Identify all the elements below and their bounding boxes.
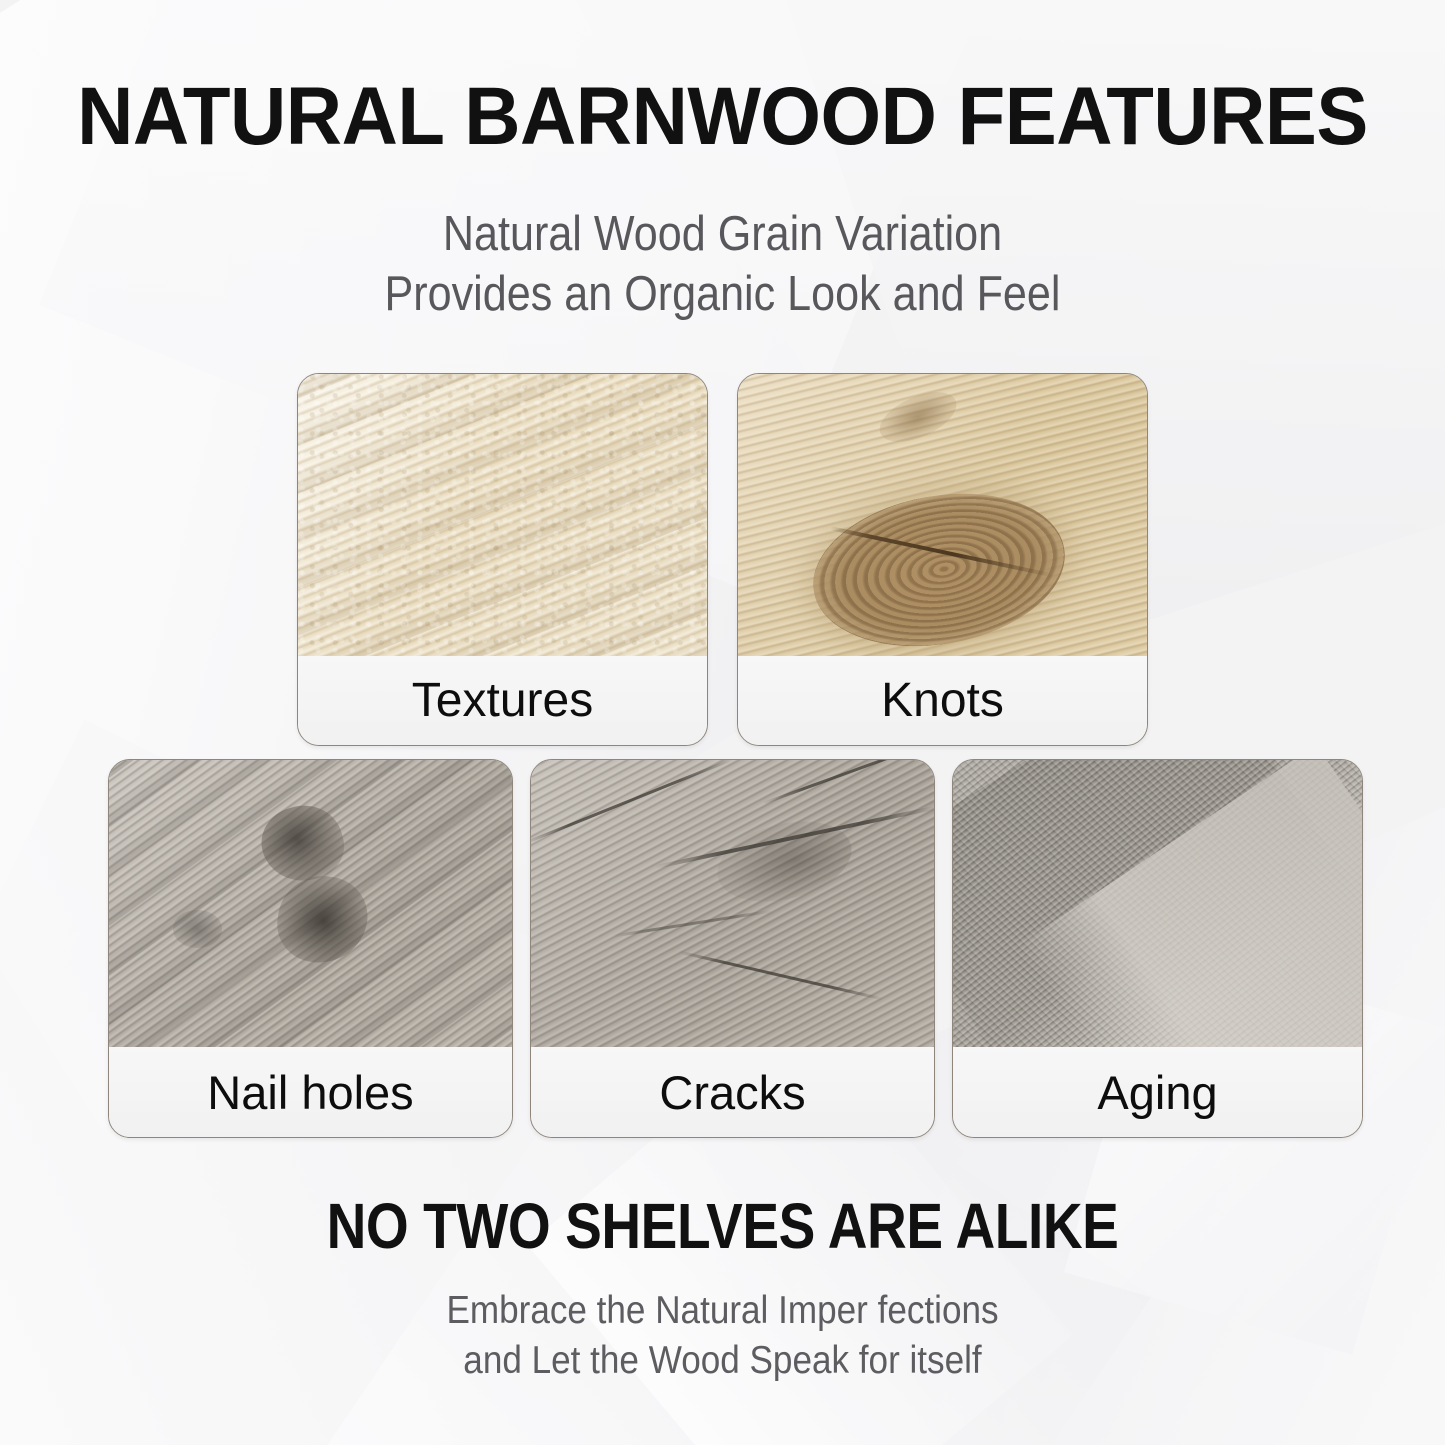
feature-card-knots[interactable]: Knots	[737, 373, 1148, 746]
feature-image-cracks	[531, 760, 934, 1049]
footer-headline: NO TWO SHELVES ARE ALIKE	[101, 1189, 1344, 1263]
feature-label-cracks: Cracks	[531, 1047, 934, 1137]
subtitle-line-1: Natural Wood Grain Variation	[87, 205, 1359, 265]
feature-image-nail-holes	[109, 760, 512, 1049]
infographic-page: NATURAL BARNWOOD FEATURES Natural Wood G…	[0, 0, 1445, 1445]
feature-image-aging	[953, 760, 1362, 1049]
wood-texture-fiber	[953, 760, 1362, 1049]
page-title: NATURAL BARNWOOD FEATURES	[36, 70, 1409, 164]
feature-label-knots: Knots	[738, 656, 1147, 745]
wood-texture-cream	[298, 374, 707, 658]
wood-texture-knot	[738, 374, 1147, 658]
wood-texture-cracks	[531, 760, 934, 1049]
grain-lines	[531, 760, 934, 1049]
feature-image-knots	[738, 374, 1147, 658]
wood-texture-gouge	[109, 760, 512, 1049]
footer-note-line-2: and Let the Wood Speak for itself	[72, 1336, 1373, 1386]
page-subtitle: Natural Wood Grain Variation Provides an…	[87, 205, 1359, 325]
feature-label-textures: Textures	[298, 656, 707, 745]
feature-card-aging[interactable]: Aging	[952, 759, 1363, 1138]
feature-label-aging: Aging	[953, 1047, 1362, 1137]
grain-speckle	[298, 374, 707, 658]
feature-card-cracks[interactable]: Cracks	[530, 759, 935, 1138]
feature-card-textures[interactable]: Textures	[297, 373, 708, 746]
feature-image-textures	[298, 374, 707, 658]
feature-label-nail-holes: Nail holes	[109, 1047, 512, 1137]
footer-note-line-1: Embrace the Natural Imper fections	[72, 1286, 1373, 1336]
feature-card-nail-holes[interactable]: Nail holes	[108, 759, 513, 1138]
subtitle-line-2: Provides an Organic Look and Feel	[87, 265, 1359, 325]
footer-note: Embrace the Natural Imper fections and L…	[72, 1286, 1373, 1386]
nail-hole-small	[173, 910, 221, 948]
